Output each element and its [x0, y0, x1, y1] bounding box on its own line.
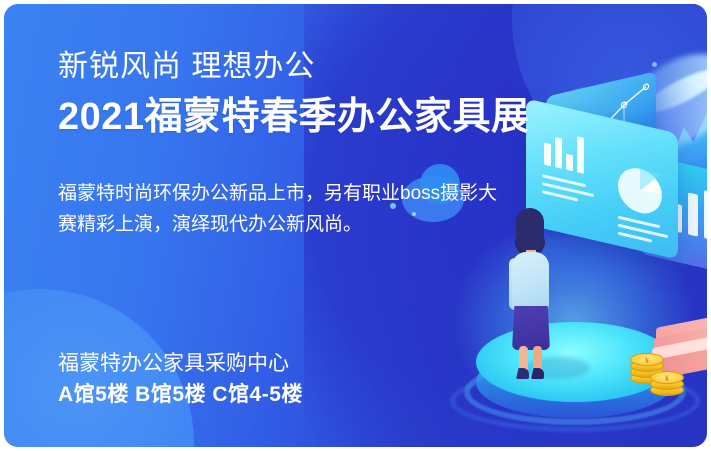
standing-woman-figure	[500, 208, 562, 378]
background-dot-3	[652, 62, 657, 67]
coin-icon: ¥	[650, 371, 684, 384]
money-group: ¥ ¥	[630, 312, 707, 398]
banner-headline: 2021福蒙特春季办公家具展	[58, 92, 508, 142]
right-bar-3	[688, 192, 698, 236]
promo-banner: ¥ ¥ 新锐风尚 理想办公 2021福蒙特春季办公家具展 福蒙特时尚环保办公新品…	[4, 4, 707, 447]
woman-blouse	[512, 252, 549, 310]
main-bar-4	[577, 136, 584, 174]
main-bar-3	[566, 154, 573, 172]
woman-shoe-left	[516, 368, 529, 379]
venue-name: 福蒙特办公家具采购中心	[58, 349, 498, 379]
banner-kicker: 新锐风尚 理想办公	[58, 46, 508, 88]
woman-hair	[516, 208, 544, 250]
main-bar-1	[544, 143, 551, 167]
banner-description: 福蒙特时尚环保办公新品上市，另有职业boss摄影大赛精彩上演，演绎现代办公新风尚…	[58, 178, 498, 240]
headline-block: 新锐风尚 理想办公 2021福蒙特春季办公家具展 福蒙特时尚环保办公新品上市，另…	[58, 46, 508, 240]
main-bar-2	[555, 137, 562, 169]
coin-icon: ¥	[630, 353, 664, 366]
venue-halls: A馆5楼 B馆5楼 C馆4-5楼	[58, 379, 498, 411]
woman-skirt	[512, 306, 550, 350]
venue-block: 福蒙特办公家具采购中心 A馆5楼 B馆5楼 C馆4-5楼	[58, 349, 498, 411]
right-bar-4	[704, 190, 707, 240]
